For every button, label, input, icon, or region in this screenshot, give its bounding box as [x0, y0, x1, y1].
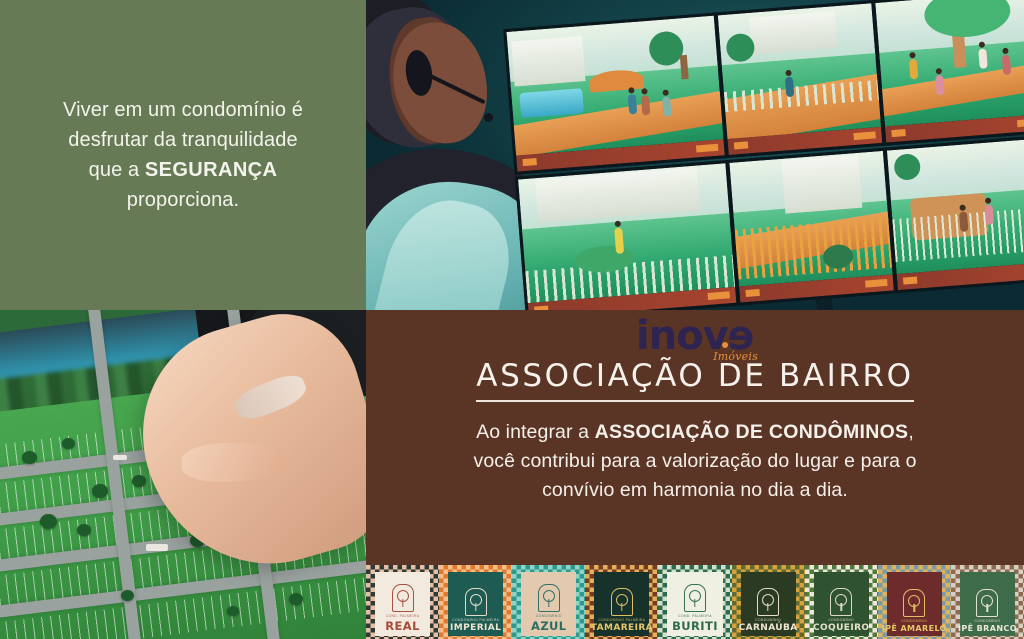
cctv-operator-illustration [366, 0, 1024, 310]
badge-ip-amarelo[interactable]: CONDOMÍNIOIPÊ AMARELO [878, 565, 951, 639]
monitor-screen [715, 0, 886, 158]
monitor-screen [515, 160, 740, 310]
association-body: Ao integrar a ASSOCIAÇÃO DE CONDÔMINOS, … [460, 418, 930, 505]
badge-azul[interactable]: CONDOMÍNIOAZUL [512, 565, 585, 639]
security-keyword: SEGURANÇA [145, 159, 278, 181]
inove-logo: inove Imóveis [636, 316, 754, 356]
palm-emblem-icon [976, 589, 998, 617]
badge-name: TAMAREIRA [591, 623, 653, 633]
palm-emblem-icon [392, 584, 414, 612]
brand-dot-icon [722, 342, 728, 348]
security-text-panel: Viver em um condomínio é desfrutar da tr… [0, 0, 366, 310]
badge-kicker: CONDOMÍNIO PALMEIRA [598, 618, 645, 622]
badge-card: CONDOMÍNIOCOQUEIRO [814, 572, 869, 636]
security-line-4: proporciona. [127, 189, 239, 211]
scale-model-photo [0, 310, 366, 639]
badge-buriti[interactable]: COND. PALMEIRABURITI [658, 565, 731, 639]
badge-kicker: CONDOMÍNIO [828, 618, 854, 622]
badge-card: CONDOMÍNIO PALMEIRATAMAREIRA [594, 572, 649, 636]
palm-emblem-icon [903, 589, 925, 617]
palm-emblem-icon [830, 588, 852, 616]
badge-card: COND. PALMEIRABURITI [667, 572, 722, 636]
body-highlight: ASSOCIAÇÃO DE CONDÔMINOS [595, 421, 909, 443]
badge-name: AZUL [531, 619, 567, 633]
badge-name: BURITI [672, 619, 718, 633]
monitor-screen [872, 0, 1024, 146]
palm-emblem-icon [757, 588, 779, 616]
monitor-screen [503, 12, 728, 174]
badge-imperial[interactable]: CONDOMÍNIO PALMEIRAIMPERIAL [439, 565, 512, 639]
microphone-tip [484, 113, 493, 122]
badge-kicker: CONDOMÍNIO [901, 619, 927, 623]
palm-emblem-icon [465, 588, 487, 616]
body-prefix: Ao integrar a [476, 421, 594, 443]
badge-kicker: CONDOMÍNIO [755, 618, 781, 622]
badge-name: IMPERIAL [450, 623, 501, 633]
security-message: Viver em um condomínio é desfrutar da tr… [18, 95, 348, 215]
badge-card: CONDOMÍNIOAZUL [521, 572, 576, 636]
badge-name: IPÊ BRANCO [958, 624, 1017, 633]
badge-tamareira[interactable]: CONDOMÍNIO PALMEIRATAMAREIRA [585, 565, 658, 639]
badge-card: CONDOMÍNIOIPÊ AMARELO [887, 572, 942, 636]
badge-name: CARNAÚBA [739, 623, 798, 633]
security-line-2: desfrutar da tranquilidade [68, 129, 297, 151]
badge-card: CONDOMÍNIOCARNAÚBA [741, 572, 796, 636]
badge-card: CONDOMÍNIO PALMEIRAIMPERIAL [448, 572, 503, 636]
badge-coqueiro[interactable]: CONDOMÍNIOCOQUEIRO [805, 565, 878, 639]
badge-kicker: CONDOMÍNIO [974, 619, 1000, 623]
badge-kicker: COND. PALMEIRA [386, 614, 420, 618]
palm-emblem-icon [538, 584, 560, 612]
badge-name: IPÊ AMARELO [882, 624, 947, 633]
badge-card: CONDOMÍNIOIPÊ BRANCO [960, 572, 1015, 636]
badge-name: REAL [385, 619, 420, 633]
badge-real[interactable]: COND. PALMEIRAREAL [366, 565, 439, 639]
monitor-screen [726, 148, 897, 306]
badge-card: COND. PALMEIRAREAL [375, 572, 430, 636]
security-line-3-prefix: que a [89, 159, 145, 181]
badge-name: COQUEIRO [813, 623, 870, 633]
palm-emblem-icon [684, 584, 706, 612]
monitor-wall [503, 0, 1024, 310]
security-line-1: Viver em um condomínio é [63, 99, 303, 121]
badge-carna-ba[interactable]: CONDOMÍNIOCARNAÚBA [732, 565, 805, 639]
badge-kicker: CONDOMÍNIO PALMEIRA [452, 618, 499, 622]
badge-kicker: COND. PALMEIRA [678, 614, 712, 618]
title-underline [476, 400, 914, 402]
palm-emblem-icon [611, 588, 633, 616]
badge-kicker: CONDOMÍNIO [536, 614, 562, 618]
promotional-composite: Viver em um condomínio é desfrutar da tr… [0, 0, 1024, 639]
condominium-badge-strip: COND. PALMEIRAREALCONDOMÍNIO PALMEIRAIMP… [366, 565, 1024, 639]
badge-ip-branco[interactable]: CONDOMÍNIOIPÊ BRANCO [951, 565, 1024, 639]
monitor-screen [884, 135, 1024, 294]
page-title: ASSOCIAÇÃO DE BAIRRO [366, 358, 1024, 394]
